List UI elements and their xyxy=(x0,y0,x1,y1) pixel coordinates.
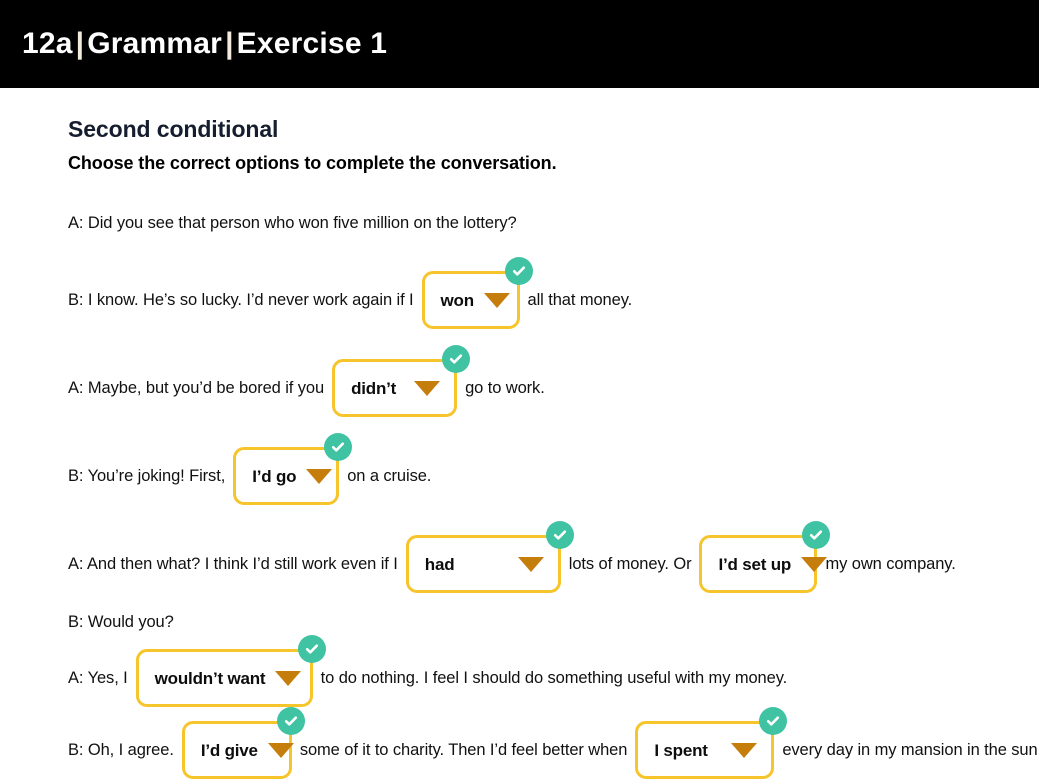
line-4-text-after: on a cruise. xyxy=(347,467,431,486)
line-8-text-middle: some of it to charity. Then I’d feel bet… xyxy=(300,741,628,760)
line-7-text-before: A: Yes, I xyxy=(68,669,128,688)
dropdown-didnt-wrap: didn’t xyxy=(332,359,457,417)
header-unit: 12a xyxy=(22,27,73,60)
check-badge-didnt xyxy=(442,345,470,373)
dropdown-idgive[interactable]: I’d give xyxy=(182,721,292,779)
chevron-down-icon xyxy=(414,381,440,396)
check-badge-idsetup xyxy=(802,521,830,549)
conversation-line-2: B: I know. He’s so lucky. I’d never work… xyxy=(68,271,1039,329)
conversation-line-7: A: Yes, I wouldn’t want to do nothing. I… xyxy=(68,649,1039,707)
chevron-down-icon xyxy=(306,469,332,484)
chevron-down-icon xyxy=(275,671,301,686)
chevron-down-icon xyxy=(268,743,294,758)
conversation-line-1: A: Did you see that person who won five … xyxy=(68,208,1039,238)
header-section: Grammar xyxy=(87,27,222,60)
dropdown-won-wrap: won xyxy=(422,271,520,329)
check-badge-idgo xyxy=(324,433,352,461)
conversation-line-4: B: You’re joking! First, I’d go on a cru… xyxy=(68,447,1039,505)
dropdown-won-label: won xyxy=(441,292,474,309)
dropdown-didnt-label: didn’t xyxy=(351,380,396,397)
dropdown-idgo[interactable]: I’d go xyxy=(233,447,339,505)
line-8-text-before: B: Oh, I agree. xyxy=(68,741,174,760)
dropdown-won[interactable]: won xyxy=(422,271,520,329)
page-title: 12a|Grammar|Exercise 1 xyxy=(22,27,387,61)
dropdown-idsetup-label: I’d set up xyxy=(718,556,791,573)
dropdown-idgive-label: I’d give xyxy=(201,742,258,759)
dropdown-idgo-label: I’d go xyxy=(252,468,296,485)
check-badge-idgive xyxy=(277,707,305,735)
conversation-line-6: B: Would you? xyxy=(68,607,1039,637)
line-5-text-middle: lots of money. Or xyxy=(569,555,692,574)
section-title: Second conditional xyxy=(68,116,1039,143)
dropdown-idsetup-wrap: I’d set up xyxy=(699,535,817,593)
line-5-text-before: A: And then what? I think I’d still work… xyxy=(68,555,398,574)
line-4-text-before: B: You’re joking! First, xyxy=(68,467,225,486)
line-2-text-after: all that money. xyxy=(528,291,633,310)
dropdown-didnt[interactable]: didn’t xyxy=(332,359,457,417)
dropdown-ispent[interactable]: I spent xyxy=(635,721,774,779)
dropdown-ispent-wrap: I spent xyxy=(635,721,774,779)
dropdown-had[interactable]: had xyxy=(406,535,561,593)
conversation-line-5: A: And then what? I think I’d still work… xyxy=(68,535,1039,593)
conversation-line-8: B: Oh, I agree. I’d give some of it to c… xyxy=(68,721,1039,779)
line-1-text: A: Did you see that person who won five … xyxy=(68,214,517,233)
dropdown-had-wrap: had xyxy=(406,535,561,593)
dropdown-idgo-wrap: I’d go xyxy=(233,447,339,505)
check-badge-won xyxy=(505,257,533,285)
dropdown-wouldnt-want-label: wouldn’t want xyxy=(155,670,266,687)
section-instruction: Choose the correct options to complete t… xyxy=(68,153,1039,174)
header-exercise: Exercise 1 xyxy=(237,27,387,60)
line-5-text-after: my own company. xyxy=(825,555,955,574)
dropdown-ispent-label: I spent xyxy=(654,742,707,759)
check-badge-ispent xyxy=(759,707,787,735)
conversation-list: A: Did you see that person who won five … xyxy=(68,208,1039,779)
exercise-content: Second conditional Choose the correct op… xyxy=(0,116,1039,779)
exercise-header-bar: 12a|Grammar|Exercise 1 xyxy=(0,0,1039,88)
line-3-text-after: go to work. xyxy=(465,379,545,398)
dropdown-had-label: had xyxy=(425,556,455,573)
dropdown-idsetup[interactable]: I’d set up xyxy=(699,535,817,593)
line-2-text-before: B: I know. He’s so lucky. I’d never work… xyxy=(68,291,414,310)
line-8-text-after: every day in my mansion in the sun. xyxy=(782,741,1039,760)
dropdown-wouldnt-want-wrap: wouldn’t want xyxy=(136,649,313,707)
header-separator-1: | xyxy=(73,27,88,60)
line-6-text: B: Would you? xyxy=(68,613,174,632)
dropdown-wouldnt-want[interactable]: wouldn’t want xyxy=(136,649,313,707)
line-7-text-after: to do nothing. I feel I should do someth… xyxy=(321,669,787,688)
chevron-down-icon xyxy=(731,743,757,758)
check-badge-wouldnt-want xyxy=(298,635,326,663)
chevron-down-icon xyxy=(518,557,544,572)
check-badge-had xyxy=(546,521,574,549)
chevron-down-icon xyxy=(484,293,510,308)
header-separator-2: | xyxy=(222,27,237,60)
chevron-down-icon xyxy=(801,557,827,572)
dropdown-idgive-wrap: I’d give xyxy=(182,721,292,779)
line-3-text-before: A: Maybe, but you’d be bored if you xyxy=(68,379,324,398)
conversation-line-3: A: Maybe, but you’d be bored if you didn… xyxy=(68,359,1039,417)
